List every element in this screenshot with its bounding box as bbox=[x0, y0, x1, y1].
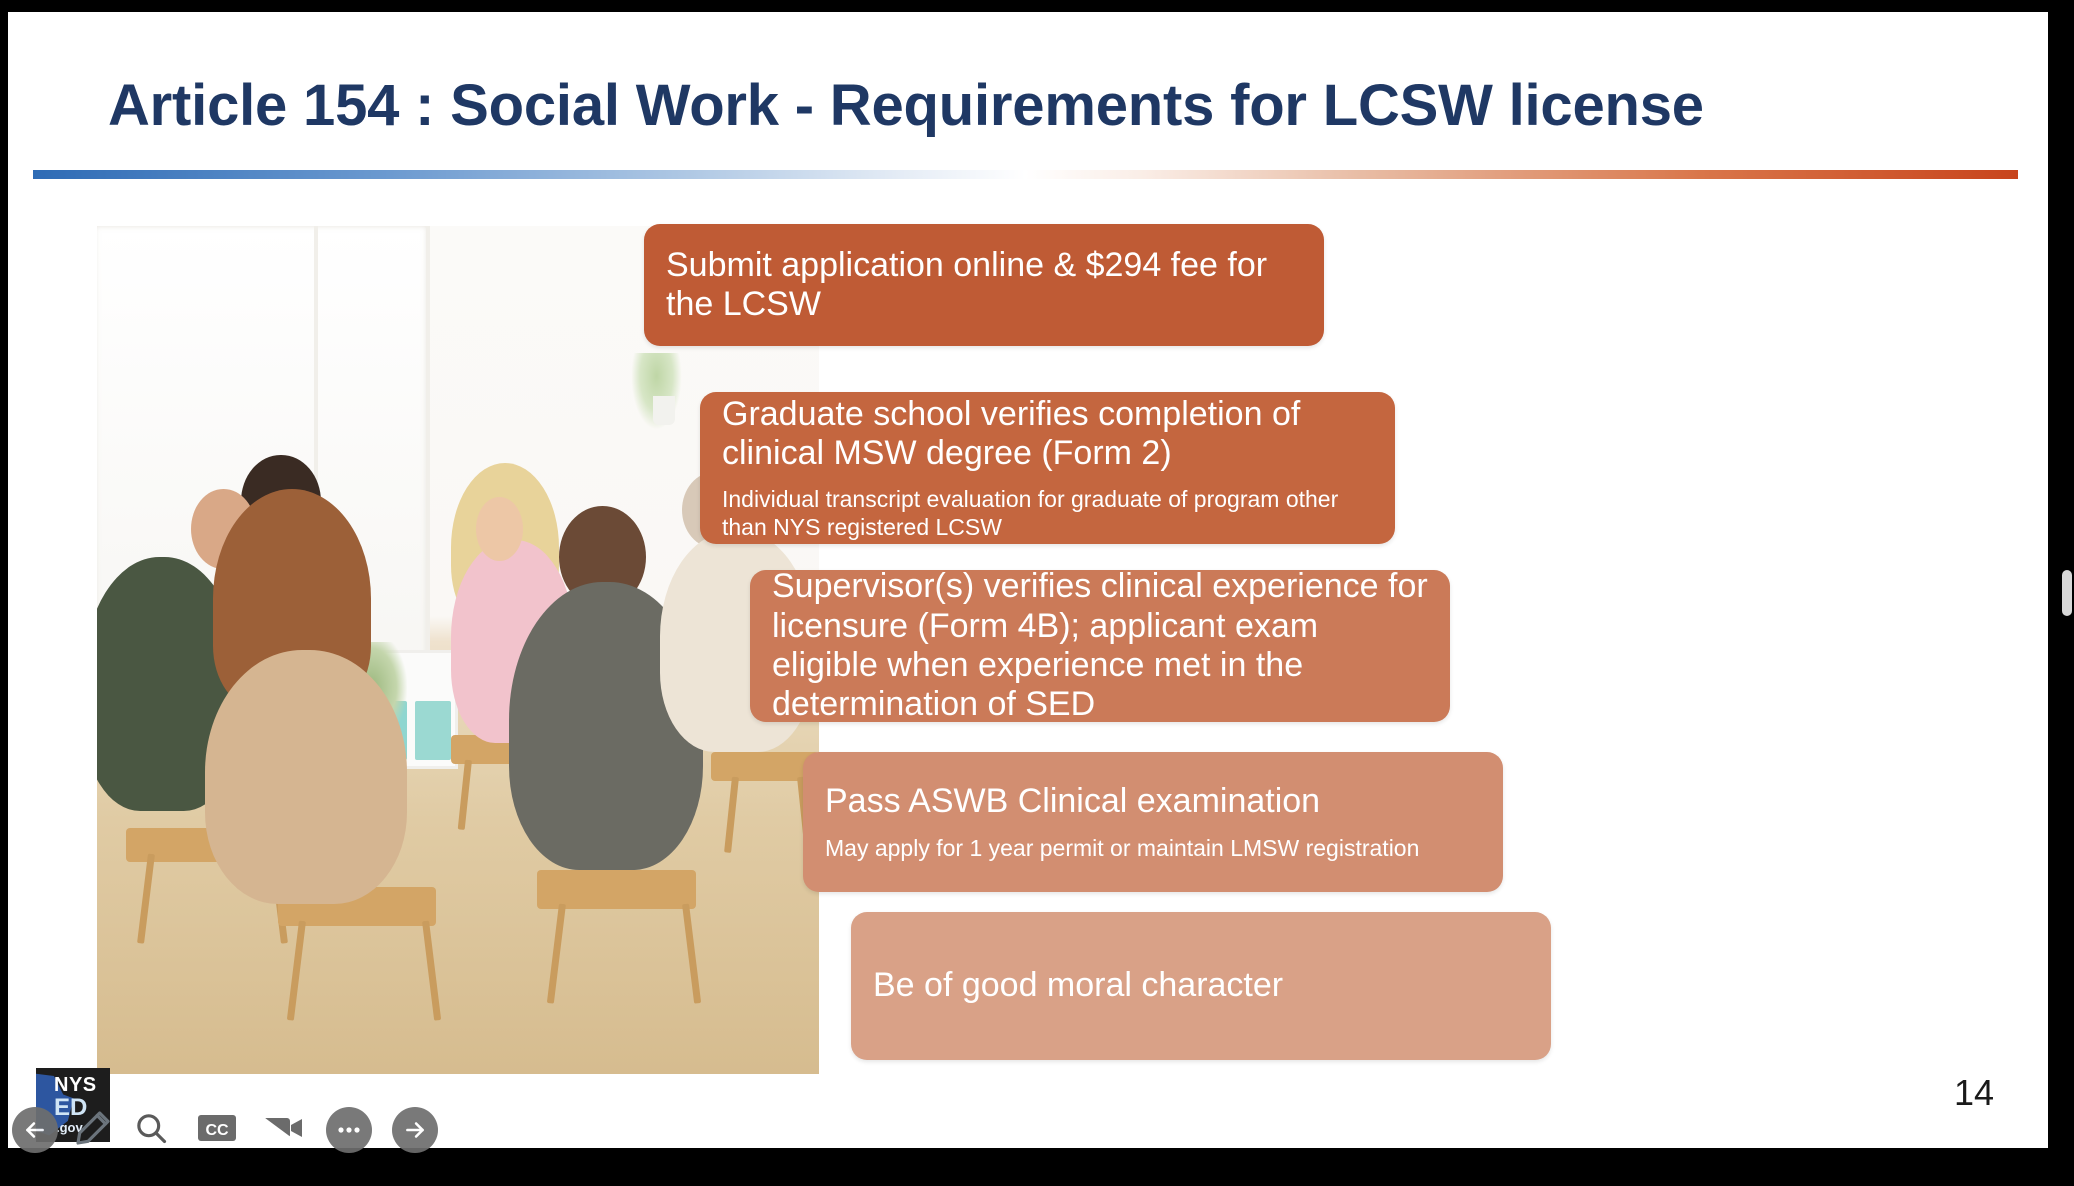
down-arrow-icon-1 bbox=[1656, 252, 1752, 402]
search-button[interactable] bbox=[128, 1107, 174, 1153]
arrow-head bbox=[1856, 928, 1952, 1002]
flow-step-2[interactable]: Graduate school verifies completion of c… bbox=[700, 392, 1395, 544]
arrow-head bbox=[1738, 576, 1834, 650]
page-number: 14 bbox=[1954, 1072, 1994, 1114]
flow-step-1[interactable]: Submit application online & $294 fee for… bbox=[644, 224, 1324, 346]
search-icon bbox=[133, 1110, 169, 1151]
captions-button[interactable]: CC bbox=[194, 1107, 240, 1153]
flow-step-4-subline: May apply for 1 year permit or maintain … bbox=[825, 834, 1481, 862]
ellipsis-icon bbox=[326, 1107, 372, 1153]
slide-canvas: Article 154 : Social Work - Requirements… bbox=[8, 12, 2048, 1148]
flow-step-5[interactable]: Be of good moral character bbox=[851, 912, 1551, 1060]
arrow-shaft bbox=[1881, 852, 1927, 936]
camera-off-icon bbox=[262, 1113, 304, 1148]
more-button[interactable] bbox=[326, 1107, 372, 1153]
flow-step-4[interactable]: Pass ASWB Clinical examination May apply… bbox=[803, 752, 1503, 892]
camera-off-button[interactable] bbox=[260, 1107, 306, 1153]
down-arrow-1 bbox=[1656, 252, 1752, 402]
arrow-head bbox=[1656, 328, 1752, 402]
down-arrow-2 bbox=[1738, 500, 1834, 650]
forward-button[interactable] bbox=[392, 1107, 438, 1153]
arrow-shaft bbox=[1681, 252, 1727, 336]
closed-caption-icon: CC bbox=[197, 1113, 237, 1148]
arrow-shaft bbox=[1763, 500, 1809, 584]
flow-step-2-subline: Individual transcript evaluation for gra… bbox=[722, 485, 1373, 541]
back-button[interactable] bbox=[12, 1107, 58, 1153]
flow-step-4-headline: Pass ASWB Clinical examination bbox=[825, 782, 1481, 821]
flow-step-3-headline: Supervisor(s) verifies clinical experien… bbox=[772, 567, 1428, 725]
svg-text:CC: CC bbox=[205, 1122, 229, 1139]
flow-step-5-headline: Be of good moral character bbox=[873, 966, 1529, 1005]
pen-icon bbox=[73, 1106, 113, 1155]
player-toolbar: CC bbox=[8, 1100, 438, 1160]
arrow-shaft bbox=[1823, 672, 1869, 756]
arrow-head bbox=[1798, 748, 1894, 822]
down-arrow-4 bbox=[1856, 852, 1952, 1002]
annotate-button[interactable] bbox=[78, 1107, 108, 1153]
vertical-scrollbar-thumb[interactable] bbox=[2062, 570, 2072, 616]
down-arrow-3 bbox=[1798, 672, 1894, 822]
flow-step-3[interactable]: Supervisor(s) verifies clinical experien… bbox=[750, 570, 1450, 722]
flow-step-2-headline: Graduate school verifies completion of c… bbox=[722, 395, 1373, 474]
presentation-viewer: Article 154 : Social Work - Requirements… bbox=[0, 0, 2074, 1186]
arrow-right-icon bbox=[392, 1107, 438, 1153]
flow-step-1-headline: Submit application online & $294 fee for… bbox=[666, 246, 1302, 325]
process-flow: Submit application online & $294 fee for… bbox=[8, 12, 2048, 1148]
arrow-left-icon bbox=[12, 1107, 58, 1153]
